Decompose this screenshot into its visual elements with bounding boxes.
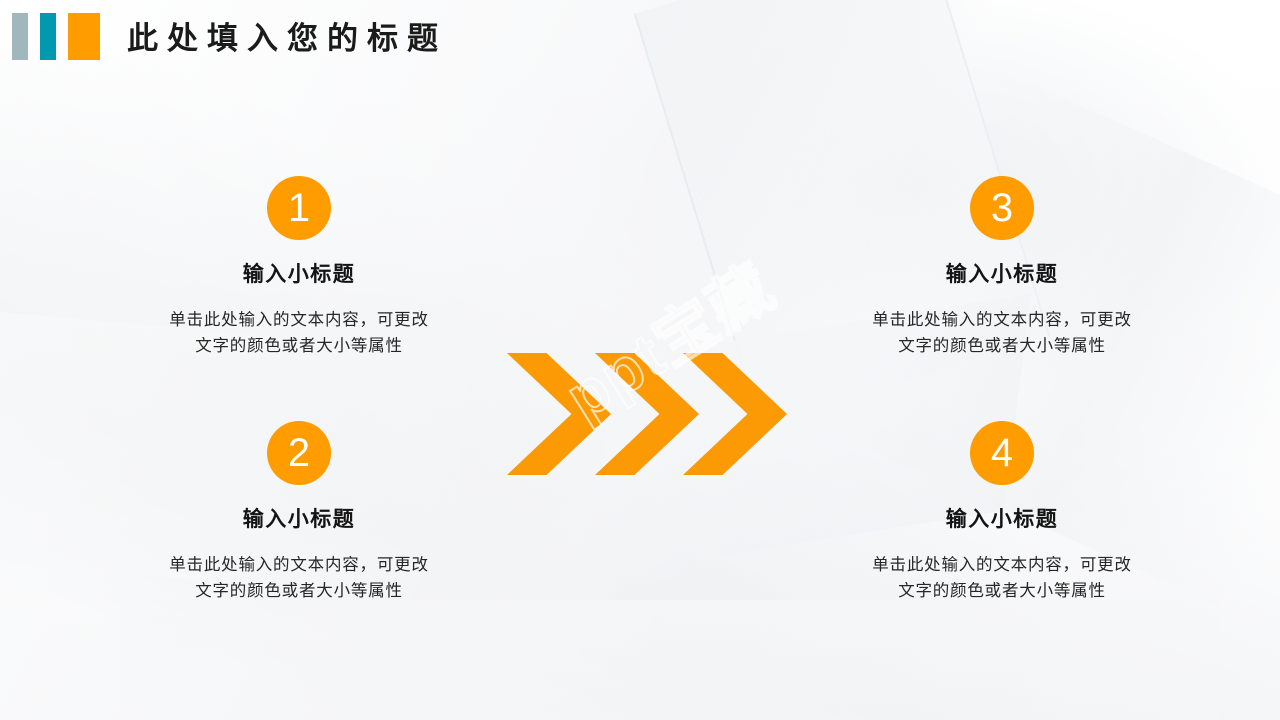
header-bar-gray-icon — [12, 13, 28, 60]
slide-header: 此处填入您的标题 — [0, 0, 1280, 80]
header-bar-group — [12, 13, 100, 63]
step-number-badge-3: 3 — [970, 176, 1034, 240]
step-number-badge-4: 4 — [970, 421, 1034, 485]
header-bar-teal-icon — [40, 13, 56, 60]
item-body-1: 单击此处输入的文本内容，可更改 文字的颜色或者大小等属性 — [119, 307, 479, 359]
item-title-3: 输入小标题 — [822, 261, 1182, 289]
item-body-2: 单击此处输入的文本内容，可更改 文字的颜色或者大小等属性 — [119, 552, 479, 604]
content-item-3: 3 输入小标题 单击此处输入的文本内容，可更改 文字的颜色或者大小等属性 — [822, 176, 1182, 359]
item-title-2: 输入小标题 — [119, 506, 479, 534]
header-bar-orange-icon — [68, 13, 100, 60]
content-item-2: 2 输入小标题 单击此处输入的文本内容，可更改 文字的颜色或者大小等属性 — [119, 421, 479, 604]
page-title: 此处填入您的标题 — [127, 17, 447, 61]
slide-canvas: 此处填入您的标题 1 输入小标题 单击此处输入的文本内容，可更改 文字的颜色或者… — [0, 0, 1280, 720]
step-number-badge-1: 1 — [267, 176, 331, 240]
item-title-4: 输入小标题 — [822, 506, 1182, 534]
step-number-badge-2: 2 — [267, 421, 331, 485]
background-desk-bottom — [120, 600, 1220, 720]
item-body-4: 单击此处输入的文本内容，可更改 文字的颜色或者大小等属性 — [822, 552, 1182, 604]
content-item-1: 1 输入小标题 单击此处输入的文本内容，可更改 文字的颜色或者大小等属性 — [119, 176, 479, 359]
item-body-3: 单击此处输入的文本内容，可更改 文字的颜色或者大小等属性 — [822, 307, 1182, 359]
content-item-4: 4 输入小标题 单击此处输入的文本内容，可更改 文字的颜色或者大小等属性 — [822, 421, 1182, 604]
chevron-right-icon-1 — [507, 353, 611, 475]
center-chevron-arrows — [505, 353, 785, 475]
item-title-1: 输入小标题 — [119, 261, 479, 289]
